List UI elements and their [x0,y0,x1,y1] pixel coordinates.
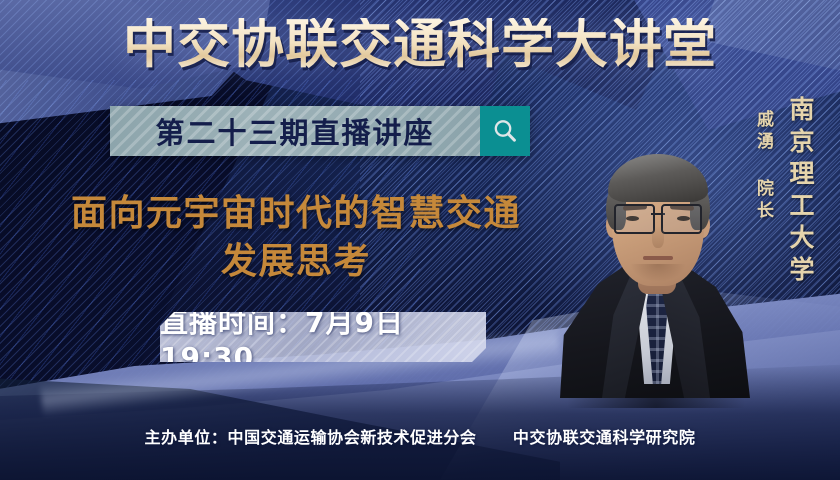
footer-institute: 中交协联交通科学研究院 [513,428,696,447]
speaker-organization: 南京理工大学 [782,96,818,288]
speaker-credits: 戚湧 院长 南京理工大学 [751,96,818,288]
lecture-title-line-2: 发展思考 [36,238,556,286]
search-button[interactable] [480,106,530,156]
lecture-title: 面向元宇宙时代的智慧交通 发展思考 [36,190,556,285]
speaker-name-role: 戚湧 院长 [751,110,776,223]
live-lecture-poster: 中交协联交通科学大讲堂 第二十三期直播讲座 面向元宇宙时代的智慧交通 发展思考 … [0,0,840,480]
glasses-lens-right [661,204,702,234]
portrait-nose [652,226,664,248]
footer: 主办单位：中国交通运输协会新技术促进分会 中交协联交通科学研究院 [0,424,840,448]
speaker-portrait [560,62,750,398]
lecture-title-line-1: 面向元宇宙时代的智慧交通 [36,190,556,238]
broadcast-time-text: 直播时间：7月9日19:30 [160,312,486,362]
session-label: 第二十三期直播讲座 [155,110,434,152]
session-bar: 第二十三期直播讲座 [110,106,530,156]
page-title: 中交协联交通科学大讲堂 [0,18,840,71]
portrait-hair [608,154,708,202]
broadcast-time-banner: 直播时间：7月9日19:30 [160,312,486,362]
footer-organizer: 主办单位：中国交通运输协会新技术促进分会 [145,428,477,447]
portrait-mouth [643,256,673,260]
glasses-lens-left [614,204,655,234]
session-label-field: 第二十三期直播讲座 [110,106,480,156]
search-icon [491,117,519,145]
portrait-chin-shadow [630,264,686,282]
